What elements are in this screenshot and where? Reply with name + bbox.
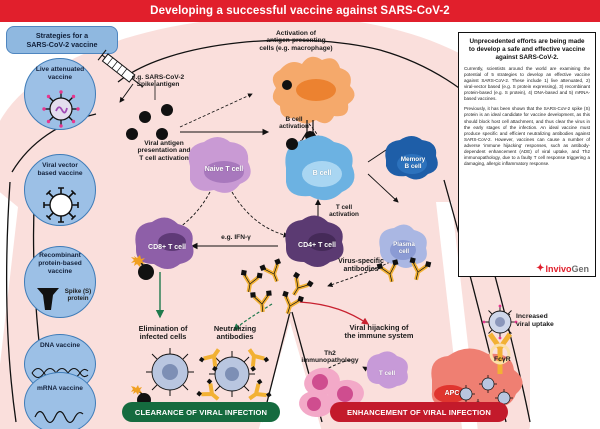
enhancement-banner-label: ENHANCEMENT OF VIRAL INFECTION: [347, 408, 491, 417]
diagram-canvas: Strategies for a SARS-CoV-2 vaccine Live…: [0, 22, 600, 429]
infographic-root: Developing a successful vaccine against …: [0, 0, 600, 429]
page-title: Developing a successful vaccine against …: [150, 5, 450, 17]
logo-part1: Invivo: [545, 264, 571, 274]
info-panel-paragraph-2: Previously, it has been shown that the S…: [464, 106, 590, 166]
clearance-banner[interactable]: CLEARANCE OF VIRAL INFECTION: [122, 402, 280, 422]
invivogen-mark-icon: ✦: [536, 263, 544, 274]
panel-title-line2: to develop a safe and effective vaccine: [469, 46, 585, 53]
apc-label: APC: [438, 390, 466, 398]
uptake-line1: Increased: [516, 313, 548, 320]
clearance-banner-label: CLEARANCE OF VIRAL INFECTION: [135, 408, 267, 417]
uptake-line2: viral uptake: [516, 321, 554, 328]
info-panel-title: Unprecedented efforts are being made to …: [464, 38, 590, 62]
page-title-banner: Developing a successful vaccine against …: [0, 0, 600, 22]
panel-title-line3: against SARS-CoV-2.: [496, 54, 559, 61]
info-panel-paragraph-1: Currently, scientists around the world a…: [464, 66, 590, 102]
enhancement-banner[interactable]: ENHANCEMENT OF VIRAL INFECTION: [330, 402, 508, 422]
panel-title-line1: Unprecedented efforts are being made: [469, 38, 584, 45]
info-panel: Unprecedented efforts are being made to …: [458, 32, 596, 277]
invivogen-logo: ✦ Invivo Gen: [536, 263, 589, 274]
logo-part2: Gen: [571, 264, 589, 274]
fcgr-label: FcγR: [494, 356, 511, 363]
increased-viral-uptake-label: Increased viral uptake: [516, 313, 576, 329]
